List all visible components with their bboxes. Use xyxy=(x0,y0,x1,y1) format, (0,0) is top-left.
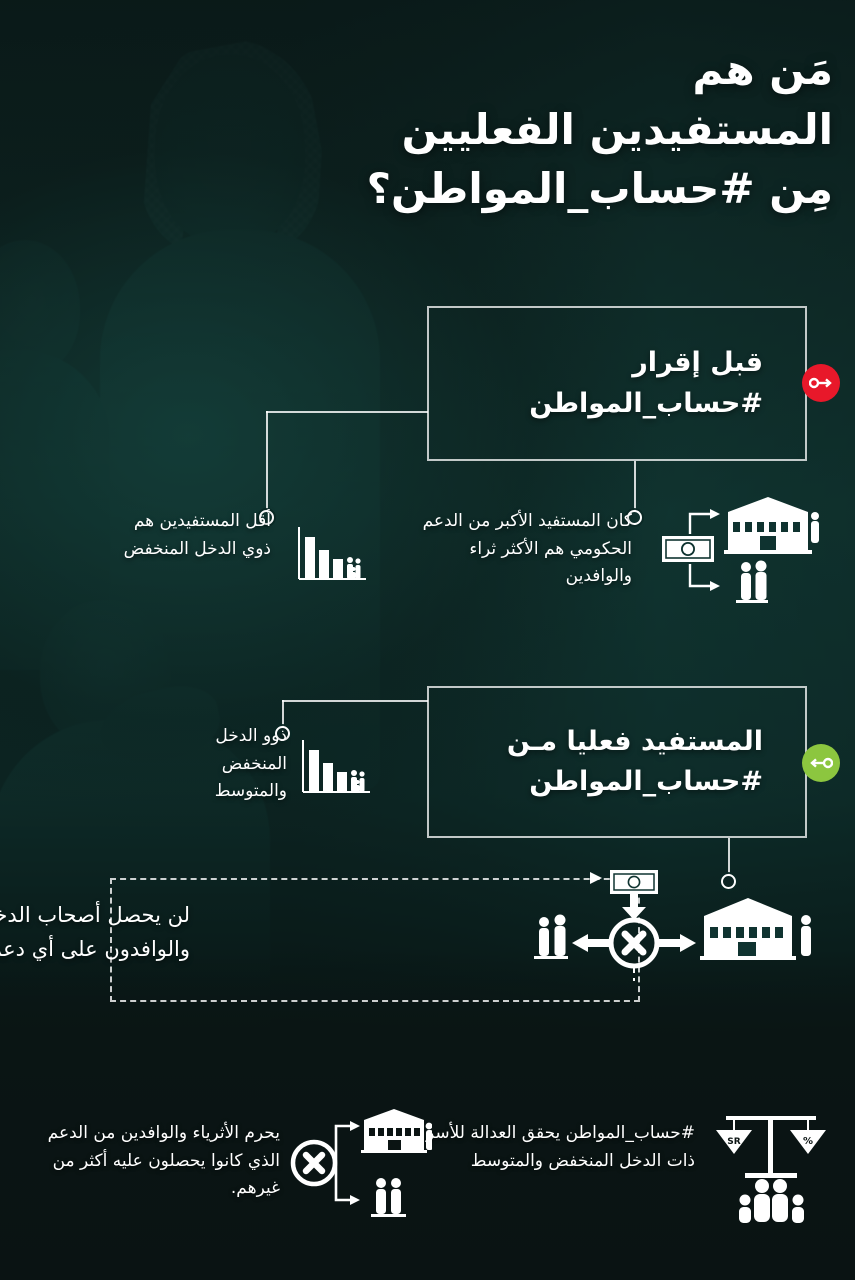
scales-family-icon: SR % xyxy=(712,1102,830,1224)
page-title: مَن هم المستفيدين الفعليين مِن #حساب_الم… xyxy=(213,40,833,219)
note-before-left: أقل المستفيدين هم ذوي الدخل المنخفض xyxy=(111,508,271,563)
connector-before-right-vertical xyxy=(634,461,636,511)
mansion-icon xyxy=(724,497,812,554)
stage-box-after: المستفيد فعليا مـن #حساب_المواطن xyxy=(427,686,807,838)
title-line-2: المستفيدين الفعليين xyxy=(213,100,833,160)
blocked-x-icon xyxy=(611,920,657,966)
stage-box-before: قبل إقرار #حساب_المواطن xyxy=(427,306,807,461)
stage-box-after-text: المستفيد فعليا مـن #حساب_المواطن xyxy=(451,722,763,803)
footer-right-text: #حساب_المواطن يحقق العدالة للأسر ذات الد… xyxy=(425,1120,695,1175)
blocked-x-icon xyxy=(293,1142,335,1184)
badge-after xyxy=(802,744,840,782)
stage-box-before-line1: قبل إقرار xyxy=(632,347,763,378)
connector-before-left-vertical xyxy=(266,411,268,512)
stage-box-before-text: قبل إقرار #حساب_المواطن xyxy=(451,343,763,424)
scale-label-left: SR xyxy=(727,1137,740,1147)
two-people-icon xyxy=(534,915,568,960)
person-icon xyxy=(426,1123,432,1150)
key-arrow-left-icon xyxy=(809,756,833,770)
note-after-left: ذوو الدخل المنخفض والمتوسط xyxy=(167,723,287,806)
infographic-poster: مَن هم المستفيدين الفعليين مِن #حساب_الم… xyxy=(0,0,855,1280)
title-line-3: مِن #حساب_المواطن؟ xyxy=(213,159,833,219)
title-line-1: مَن هم xyxy=(213,40,833,100)
bar-chart-family-icon-before xyxy=(296,525,368,585)
connector-after-left-horizontal xyxy=(282,700,428,702)
two-people-icon xyxy=(371,1178,406,1217)
mansion-icon xyxy=(361,1109,427,1153)
person-icon xyxy=(801,915,811,956)
dashed-callout-text: لن يحصل أصحاب الدخل المرتفع والوافدون عل… xyxy=(0,898,190,966)
money-blocked-x-icon xyxy=(524,866,824,991)
person-icon xyxy=(811,512,819,543)
footer-left-text: يحرم الأثرياء والوافدين من الدعم الذي كا… xyxy=(25,1120,280,1203)
banknote-icon xyxy=(610,870,658,894)
blocked-mansion-people-icon xyxy=(290,1104,432,1222)
scale-label-right: % xyxy=(803,1136,813,1147)
stage-box-after-line1: المستفيد فعليا مـن xyxy=(507,726,763,757)
badge-before xyxy=(802,364,840,402)
bar-chart-family-icon-after xyxy=(300,738,372,798)
key-arrow-right-icon xyxy=(809,376,833,390)
stage-box-before-line2: #حساب_المواطن xyxy=(529,388,763,419)
money-to-mansion-and-people-icon xyxy=(660,490,820,605)
two-people-icon xyxy=(736,561,768,604)
stage-box-after-line2: #حساب_المواطن xyxy=(529,766,763,797)
note-before-right: كان المستفيد الأكبر من الدعم الحكومي هم … xyxy=(406,508,632,591)
banknote-icon xyxy=(662,536,714,562)
family-icon xyxy=(739,1179,804,1223)
connector-before-left-horizontal xyxy=(266,411,428,413)
mansion-icon xyxy=(700,898,796,960)
